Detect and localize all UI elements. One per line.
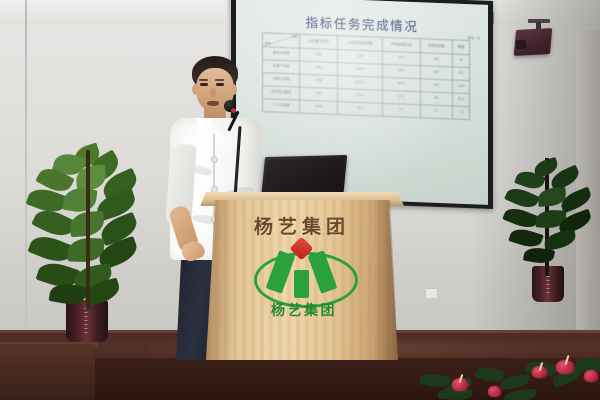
shirt-button — [211, 186, 218, 193]
row-cell: 96 — [420, 92, 452, 106]
row-cell: 9.2 — [383, 103, 420, 117]
shirt-button — [211, 156, 218, 163]
plant-left — [24, 146, 148, 342]
microphone-indicator-light — [231, 108, 236, 113]
plant-stem — [86, 150, 90, 310]
row-cell: 160 — [420, 66, 452, 80]
flower-arrangement — [380, 336, 600, 400]
wall-outlet — [425, 288, 438, 299]
row-cell: -7.2 — [452, 106, 469, 120]
laptop-screen[interactable] — [264, 158, 343, 197]
pot-ring-decor — [85, 308, 88, 334]
wall-seam-center — [228, 0, 230, 18]
stage-step — [0, 344, 95, 400]
row-cell: 344 — [420, 79, 452, 93]
person-eye-right — [216, 83, 224, 86]
row-cell: -10.4 — [452, 80, 469, 94]
person-eye-left — [200, 83, 208, 86]
plant-leaf — [508, 225, 543, 250]
slide-data-table: 项目 单位 全年累计任务 1-6月实际完成数 时间进度比例 同期完成数 增幅 宣… — [262, 32, 470, 120]
column-header: 同期完成数 — [420, 39, 452, 54]
projector-lens-icon — [516, 40, 527, 50]
table-corner-header: 项目 单位 — [263, 33, 300, 48]
flower-bloom — [584, 370, 598, 382]
plant-right — [500, 158, 596, 308]
flower-leaf — [503, 388, 536, 400]
photo-scene: 指标任务完成情况 单位：% 项目 单位 全年累计任务 1-6月实际完成数 时间进… — [0, 0, 600, 400]
row-cell: 90.1 — [337, 102, 382, 117]
column-header: 时间进度比例 — [383, 37, 420, 52]
plant-leaf — [62, 186, 97, 214]
corner-header-top: 项目 — [291, 35, 297, 39]
flower-bloom — [488, 386, 501, 397]
row-cell: 180 — [420, 53, 452, 67]
plant-leaf — [502, 204, 540, 232]
column-header: 增幅 — [452, 40, 469, 55]
column-header: 全年累计任务 — [300, 34, 337, 49]
person-ear-left — [192, 84, 199, 95]
row-cell: 16 — [452, 54, 469, 68]
person-nose — [210, 88, 216, 97]
company-logo — [248, 238, 358, 308]
corner-header-bottom: 单位 — [265, 42, 271, 46]
row-cell: 6 — [420, 105, 452, 119]
row-cell: 9.5 — [452, 67, 469, 81]
logo-y-stem-icon — [294, 270, 309, 298]
row-cell: 26.3 — [452, 93, 469, 107]
person-eyebrow-right — [215, 79, 224, 81]
person-eyebrow-left — [199, 79, 208, 81]
person-mouth — [207, 101, 219, 106]
podium-brand-text-top: 杨艺集团 — [232, 212, 372, 239]
person-ear-right — [230, 84, 237, 95]
podium-brand-text-bottom: 杨艺集团 — [252, 300, 356, 320]
row-cell: 1000 — [300, 100, 337, 114]
